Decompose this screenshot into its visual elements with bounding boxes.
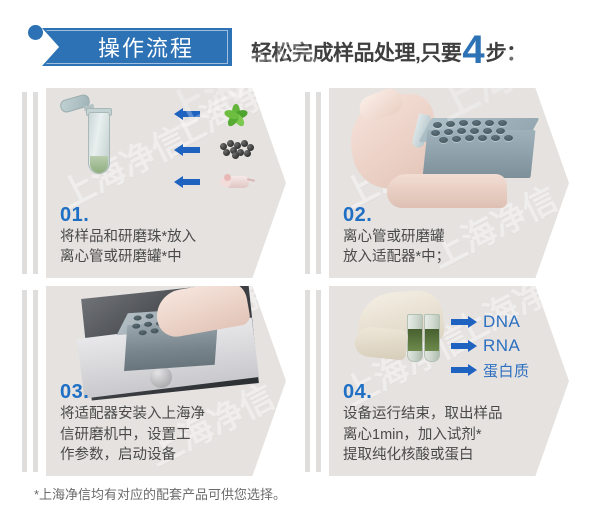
step-card-03: 上海净信 上海净信 [22, 286, 307, 478]
step-description-line: 放入适配器*中； [343, 247, 450, 268]
output-label: DNA [483, 312, 520, 332]
output-item: RNA [451, 334, 569, 358]
left-arrow-icon [174, 144, 200, 156]
step-description-line: 离心1min，加入试剂* [343, 425, 503, 446]
card-accent-bar [316, 92, 321, 274]
step-card-01: 上海净信 上海净信 [22, 88, 307, 280]
step-card-body: 上海净信 上海净信 [46, 88, 286, 278]
step-description: 将适配器安装入上海净 信研磨机中，设置工 作参数，启动设备 [60, 404, 205, 466]
badge-dot-icon [28, 25, 43, 40]
step-card-body: 上海净信 上海净信 [329, 88, 569, 278]
step-description-line: 将样品和研磨珠*放入 [60, 227, 196, 248]
section-badge-label: 操作流程 [80, 31, 194, 63]
step-number: 02. [343, 205, 450, 226]
card-accent-bar [305, 92, 310, 274]
sample-tube-icon [407, 314, 423, 362]
step-card-body: 上海净信 上海净信 DNA RNA [329, 286, 569, 476]
step-description-line: 提取纯化核酸或蛋白 [343, 445, 503, 466]
step-description-line: 离心管或研磨罐*中 [60, 247, 196, 268]
step-number: 04. [343, 382, 503, 403]
card-accent-bar [22, 290, 27, 472]
step-description: 设备运行结束，取出样品 离心1min，加入试剂* 提取纯化核酸或蛋白 [343, 404, 503, 466]
output-list: DNA RNA 蛋白质 [451, 310, 569, 382]
plant-leaf-icon [222, 102, 250, 128]
step-02-illustration [329, 88, 569, 206]
right-arrow-icon [451, 316, 477, 328]
step-description: 将样品和研磨珠*放入 离心管或研磨罐*中 [60, 227, 196, 268]
adapter-holes [431, 120, 533, 144]
step-description-line: 设备运行结束，取出样品 [343, 404, 503, 425]
left-arrow-icon [174, 108, 200, 120]
step-card-02: 上海净信 上海净信 [305, 88, 590, 280]
steps-grid: 上海净信 上海净信 [0, 88, 600, 478]
step-card-04: 上海净信 上海净信 DNA RNA [305, 286, 590, 478]
step-03-text: 03. 将适配器安装入上海净 信研磨机中，设置工 作参数，启动设备 [60, 382, 205, 466]
mouse-specimen-icon [220, 172, 254, 190]
card-accent-bar [316, 290, 321, 472]
headline-prefix: 轻松完成样品处理,只要 [251, 37, 461, 67]
grinding-beads-icon [218, 138, 254, 158]
card-accent-bar [33, 290, 38, 472]
step-description-line: 将适配器安装入上海净 [60, 404, 205, 425]
card-accent-bar [22, 92, 27, 274]
step-description-line: 信研磨机中，设置工 [60, 425, 205, 446]
step-number: 03. [60, 382, 205, 403]
headline: 轻松完成样品处理,只要 4 步： [251, 29, 527, 71]
step-card-body: 上海净信 上海净信 [46, 286, 286, 476]
left-arrow-icon [174, 176, 200, 188]
footer-note: *上海净信均有对应的配套产品可供您选择。 [34, 484, 286, 503]
output-item: 蛋白质 [451, 358, 569, 382]
step-description-line: 离心管或研磨罐 [343, 227, 450, 248]
section-badge: 操作流程 [46, 30, 228, 64]
headline-suffix: 步： [486, 37, 527, 67]
thumb-icon [354, 325, 409, 360]
output-label: 蛋白质 [483, 360, 530, 381]
step-01-illustration [46, 88, 286, 206]
headline-step-count: 4 [462, 32, 484, 68]
right-arrow-icon [451, 340, 477, 352]
page-header: 操作流程 轻松完成样品处理,只要 4 步： [0, 0, 600, 88]
arm-icon [387, 174, 507, 208]
sample-tube-icon [424, 314, 440, 362]
step-description-line: 作参数，启动设备 [60, 445, 205, 466]
step-number: 01. [60, 205, 196, 226]
step-04-text: 04. 设备运行结束，取出样品 离心1min，加入试剂* 提取纯化核酸或蛋白 [343, 382, 503, 466]
right-arrow-icon [451, 364, 477, 376]
card-accent-bar [305, 290, 310, 472]
card-accent-bar [33, 92, 38, 274]
output-item: DNA [451, 310, 569, 334]
step-02-text: 02. 离心管或研磨罐 放入适配器*中； [343, 205, 450, 268]
step-description: 离心管或研磨罐 放入适配器*中； [343, 227, 450, 268]
step-01-text: 01. 将样品和研磨珠*放入 离心管或研磨罐*中 [60, 205, 196, 268]
output-label: RNA [483, 336, 520, 356]
